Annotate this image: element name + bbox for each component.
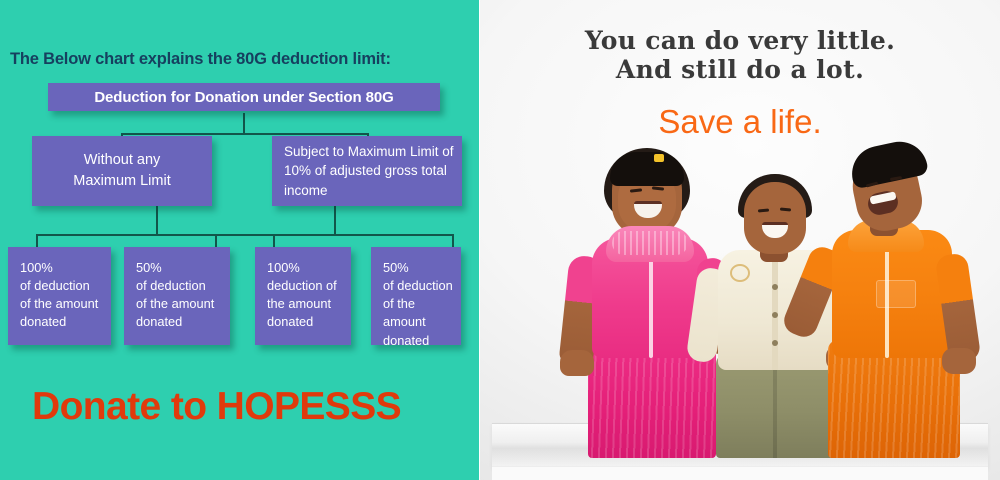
connector-root-down [243,113,245,134]
shirt-embroidery [730,264,750,282]
connector-to-leaf-4 [452,234,454,248]
chart-heading: The Below chart explains the 80G deducti… [10,50,470,69]
child-girl-orange [802,140,982,458]
flowchart-root-node: Deduction for Donation under Section 80G [48,83,440,111]
donate-cta-text: Donate to HOPESSS [32,385,462,429]
right-photo-panel: You can do very little. And still do a l… [480,0,1000,480]
tagline-save-a-life: Save a life. [480,103,1000,141]
zipper [649,246,653,358]
connector-to-leaf-1 [36,234,38,248]
trouser-seam [773,366,777,458]
hair-clip [654,154,664,162]
connector-midright-down [334,206,336,234]
children-photo [480,140,1000,480]
pink-collar [606,226,694,262]
poster-canvas: The Below chart explains the 80G deducti… [0,0,1000,480]
flowchart-node-subject-to-limit: Subject to Maximum Limit of 10% of adjus… [272,136,462,206]
head [744,182,806,254]
connector-midright-horizontal [273,234,453,236]
headline: You can do very little. And still do a l… [480,26,1000,84]
node-text: Without any Maximum Limit [73,150,170,192]
shirt-button [772,340,778,346]
left-info-panel: The Below chart explains the 80G deducti… [0,0,479,480]
flowchart-node-without-limit: Without any Maximum Limit [32,136,212,206]
connector-midleft-down [156,206,158,234]
flowchart-leaf-3: 100% deduction of the amount donated [255,247,351,345]
connector-to-leaf-3 [273,234,275,248]
hair-fringe [610,152,684,186]
connector-root-horizontal [121,133,368,135]
hand-left [560,350,594,376]
shirt-button [772,284,778,290]
flowchart-leaf-4: 50% of deduction of the amount donated [371,247,461,345]
connector-to-leaf-2 [215,234,217,248]
hand-right [942,348,976,374]
flowchart-leaf-2: 50% of deduction of the amount donated [124,247,230,345]
flowchart-leaf-1: 100% of deduction of the amount donated [8,247,111,345]
shirt-button [772,312,778,318]
node-text: Subject to Maximum Limit of 10% of adjus… [284,142,462,199]
bench-base [492,466,988,480]
chest-pocket [876,280,916,308]
headline-line-1: You can do very little. [480,26,1000,55]
connector-midleft-horizontal [36,234,276,236]
headline-line-2: And still do a lot. [480,55,1000,84]
